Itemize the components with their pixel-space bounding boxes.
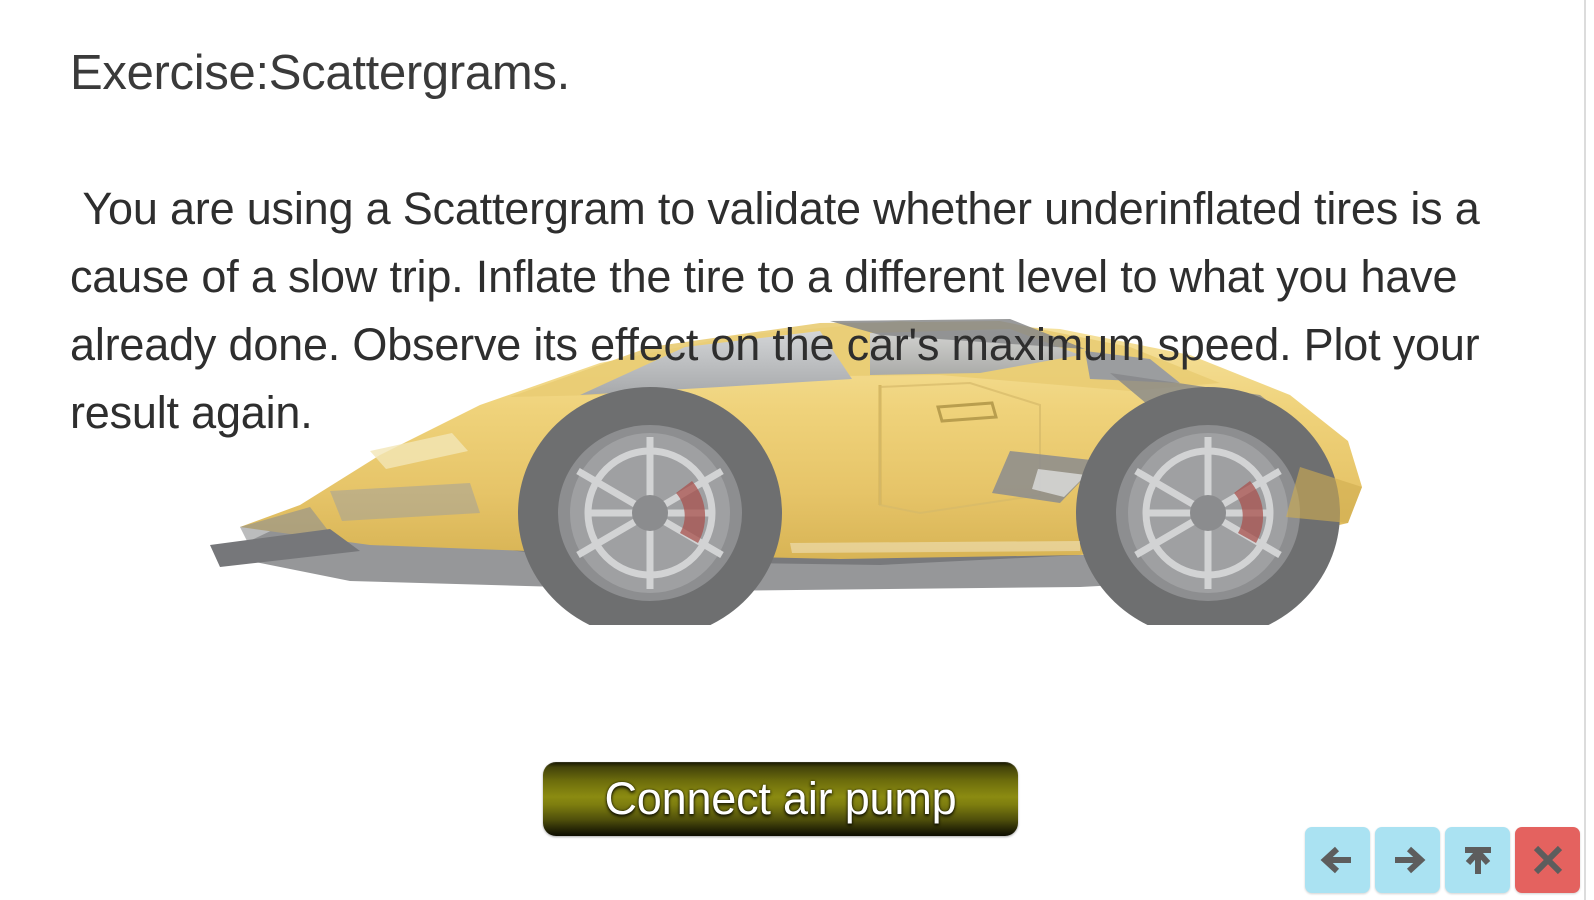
arrow-up-bar-icon bbox=[1458, 840, 1498, 880]
close-button[interactable] bbox=[1515, 827, 1580, 893]
exercise-instructions: You are using a Scattergram to validate … bbox=[70, 175, 1540, 447]
close-x-icon bbox=[1528, 840, 1568, 880]
exercise-page: Exercise:Scattergrams. You are using a S… bbox=[0, 0, 1586, 900]
forward-button[interactable] bbox=[1375, 827, 1440, 893]
navigation-bar bbox=[1305, 827, 1580, 893]
arrow-left-icon bbox=[1318, 840, 1358, 880]
exercise-content: Exercise:Scattergrams. You are using a S… bbox=[70, 44, 1540, 447]
page-title: Exercise:Scattergrams. bbox=[70, 44, 1540, 102]
back-button[interactable] bbox=[1305, 827, 1370, 893]
top-button[interactable] bbox=[1445, 827, 1510, 893]
connect-air-pump-button[interactable]: Connect air pump bbox=[543, 762, 1018, 836]
arrow-right-icon bbox=[1388, 840, 1428, 880]
